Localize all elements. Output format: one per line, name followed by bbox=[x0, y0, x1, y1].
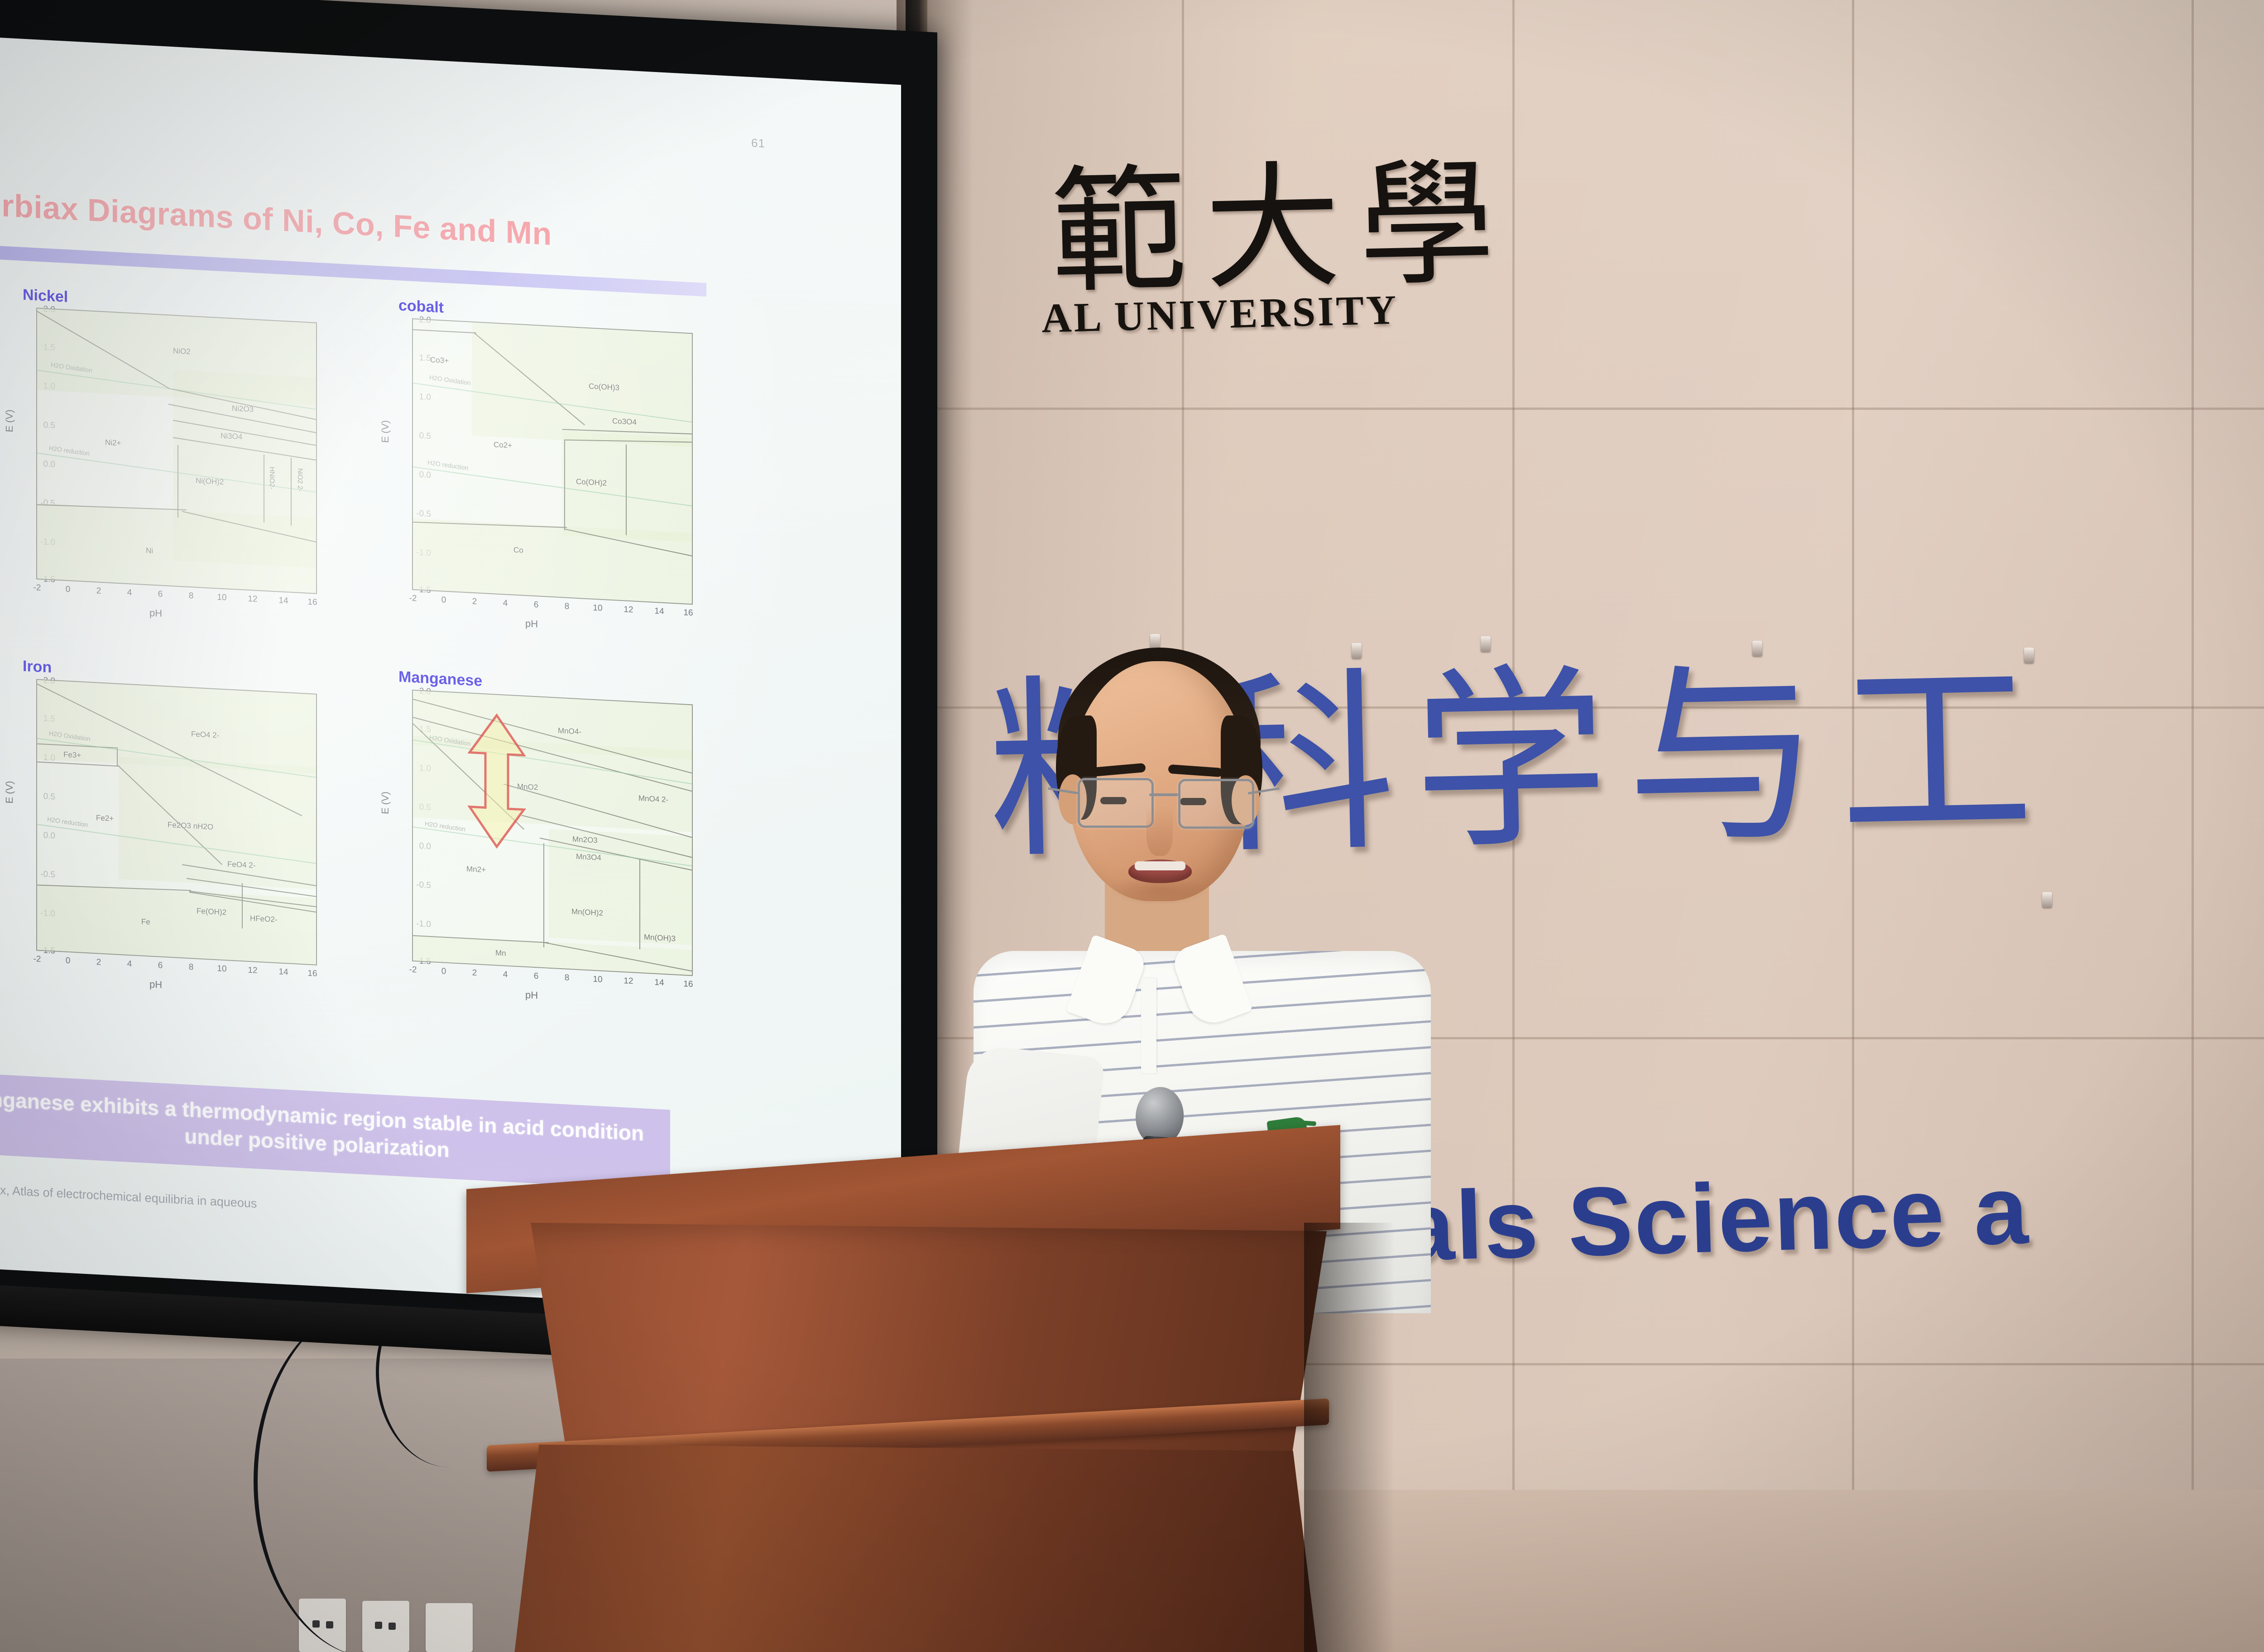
x-tick-label: 14 bbox=[650, 977, 668, 988]
x-tick-label: 6 bbox=[527, 600, 545, 610]
projected-slide: 61 urbiax Diagrams of Ni, Co, Fe and Mn … bbox=[0, 38, 901, 1316]
x-tick-label: 10 bbox=[213, 592, 231, 603]
x-tick-label: 8 bbox=[558, 601, 576, 612]
x-tick-label: 0 bbox=[59, 584, 77, 595]
wall-tile-seam bbox=[2192, 0, 2194, 1652]
x-tick-label: 16 bbox=[679, 979, 697, 990]
region-label: Ni3O4 bbox=[221, 432, 242, 442]
region-label: MnO4- bbox=[558, 726, 581, 737]
x-tick-label: 6 bbox=[527, 971, 545, 982]
slide-callout-banner: nganese exhibits a thermodynamic region … bbox=[0, 1073, 670, 1191]
shirt-placket bbox=[1141, 978, 1156, 1073]
x-tick-label: 4 bbox=[120, 959, 139, 970]
region-label: Ni2+ bbox=[105, 438, 121, 448]
region-label: Mn(OH)3 bbox=[644, 933, 676, 944]
x-tick-label: 14 bbox=[274, 595, 293, 606]
plot-area-manganese: H2O Oxidation H2O reduction MnO4- MnO2 M… bbox=[412, 690, 693, 976]
region-label: FeO4 2- bbox=[227, 860, 255, 870]
region-label: NiO2 2- bbox=[296, 468, 304, 492]
x-tick-label: 16 bbox=[679, 608, 697, 619]
x-tick-label: 16 bbox=[303, 597, 321, 608]
region-label: Co2+ bbox=[494, 440, 512, 450]
chart-cobalt: cobalt E (V) pH 2.0 1.5 1.0 0.5 0.0 -0.5… bbox=[344, 291, 720, 687]
chart-nickel: Nickel E (V) pH 2.0 1.5 1.0 0.5 0.0 -0.5… bbox=[0, 280, 344, 676]
stable-region-arrow-icon bbox=[463, 711, 531, 851]
x-tick-label: 16 bbox=[303, 968, 321, 979]
region-label: Mn3O4 bbox=[576, 852, 601, 863]
region-label: Mn(OH)2 bbox=[571, 907, 603, 918]
plot-area-cobalt: H2O Oxidation H2O reduction Co3+ Co(OH)3… bbox=[412, 318, 693, 605]
pourbaix-chart-grid: Nickel E (V) pH 2.0 1.5 1.0 0.5 0.0 -0.5… bbox=[0, 271, 747, 1095]
x-tick-label: 2 bbox=[465, 596, 484, 607]
x-tick-label: 12 bbox=[619, 605, 638, 615]
chin-shadow bbox=[1109, 874, 1209, 906]
x-tick-label: 14 bbox=[650, 606, 668, 617]
x-tick-label: 8 bbox=[558, 973, 576, 984]
annotation-water-oxidation: H2O Oxidation bbox=[429, 374, 471, 387]
sign-mount-hook bbox=[1150, 634, 1160, 649]
x-tick-label: 2 bbox=[465, 968, 484, 979]
region-label: HNiO2- bbox=[268, 466, 276, 490]
region-label: NiO2 bbox=[173, 346, 191, 356]
x-tick-label: 6 bbox=[151, 589, 169, 600]
slide-title: urbiax Diagrams of Ni, Co, Fe and Mn bbox=[0, 186, 752, 263]
region-label: Fe(OH)2 bbox=[197, 907, 226, 917]
region-label: Fe2+ bbox=[96, 813, 114, 823]
y-axis-label: E (V) bbox=[379, 791, 391, 814]
x-tick-label: 10 bbox=[213, 964, 231, 975]
region-label: MnO4 2- bbox=[638, 794, 668, 804]
region-label: Fe bbox=[141, 917, 150, 927]
x-tick-label: 12 bbox=[619, 976, 638, 987]
region-label: Ni(OH)2 bbox=[196, 476, 224, 487]
region-label: Mn bbox=[495, 948, 506, 958]
region-label: Fe3+ bbox=[63, 750, 81, 760]
lens-left bbox=[1078, 778, 1154, 828]
x-tick-label: 10 bbox=[589, 974, 607, 985]
lectern-side-shadow bbox=[1304, 1223, 1395, 1652]
x-tick-label: 12 bbox=[244, 594, 262, 605]
x-tick-label: 2 bbox=[90, 957, 108, 968]
wall-tile-seam bbox=[897, 408, 2264, 410]
x-tick-label: 4 bbox=[496, 970, 514, 980]
region-label: Co bbox=[513, 546, 523, 555]
chart-title-iron: Iron bbox=[23, 658, 52, 677]
x-axis-label: pH bbox=[149, 978, 162, 990]
sign-mount-hook bbox=[1752, 641, 1762, 656]
plot-area-iron: H2O Oxidation H2O reduction FeO4 2- Fe3+… bbox=[36, 679, 317, 965]
x-axis-label: pH bbox=[525, 989, 538, 1001]
x-tick-label: -2 bbox=[28, 582, 46, 593]
region-label: Co(OH)3 bbox=[589, 382, 619, 393]
region-label: Co3O4 bbox=[612, 417, 637, 427]
sign-mount-hook bbox=[2042, 892, 2052, 908]
x-tick-label: 8 bbox=[182, 962, 200, 973]
x-axis-label: pH bbox=[525, 618, 538, 630]
sign-mount-hook bbox=[1481, 636, 1491, 652]
lectern-base bbox=[498, 1445, 1318, 1652]
y-axis-label: E (V) bbox=[4, 781, 15, 804]
x-tick-label: 0 bbox=[435, 966, 453, 977]
region-label: Co3+ bbox=[430, 355, 449, 365]
chart-title-cobalt: cobalt bbox=[398, 297, 444, 317]
x-tick-label: 4 bbox=[496, 598, 514, 609]
y-axis-label: E (V) bbox=[379, 420, 391, 443]
chart-manganese: Manganese E (V) pH 2.0 1.5 1.0 0.5 0.0 -… bbox=[344, 663, 720, 1058]
x-tick-label: -2 bbox=[28, 954, 46, 965]
region-label: Mn2O3 bbox=[572, 835, 598, 845]
university-name-en: AL UNIVERSITY bbox=[1041, 285, 1399, 342]
region-label: FeO4 2- bbox=[191, 730, 219, 740]
x-tick-label: 14 bbox=[274, 967, 293, 978]
x-axis-label: pH bbox=[149, 607, 162, 619]
chart-title-nickel: Nickel bbox=[23, 286, 68, 306]
x-tick-label: -2 bbox=[404, 593, 422, 604]
plot-area-nickel: H2O Oxidation H2O reduction NiO2 Ni2O3 N… bbox=[36, 307, 317, 594]
x-tick-label: 12 bbox=[244, 965, 262, 976]
x-tick-label: 2 bbox=[90, 586, 108, 597]
x-tick-label: 4 bbox=[120, 587, 139, 598]
region-label: Mn2+ bbox=[466, 864, 486, 874]
y-axis-label: E (V) bbox=[4, 409, 15, 432]
slide-number: 61 bbox=[751, 136, 765, 151]
presentation-photo-scene: 範大學 AL UNIVERSITY 料科学与工 erials Science a… bbox=[0, 0, 2264, 1652]
x-tick-label: 8 bbox=[182, 591, 200, 601]
region-label: HFeO2- bbox=[250, 914, 277, 924]
x-tick-label: -2 bbox=[404, 965, 422, 975]
glasses-bridge bbox=[1149, 793, 1178, 796]
lens-right bbox=[1178, 779, 1254, 829]
chart-iron: Iron E (V) pH 2.0 1.5 1.0 0.5 0.0 -0.5 -… bbox=[0, 652, 344, 1047]
x-tick-label: 10 bbox=[589, 603, 607, 614]
teeth bbox=[1135, 861, 1185, 870]
region-label: Co(OH)2 bbox=[576, 477, 607, 488]
x-tick-label: 0 bbox=[59, 956, 77, 966]
x-tick-label: 6 bbox=[151, 960, 169, 971]
sign-mount-hook bbox=[2024, 648, 2034, 663]
region-label: Ni2O3 bbox=[232, 404, 254, 414]
region-label: Ni bbox=[146, 546, 153, 556]
sign-mount-hook bbox=[1352, 643, 1362, 658]
nose bbox=[1146, 806, 1173, 856]
x-tick-label: 0 bbox=[435, 595, 453, 605]
